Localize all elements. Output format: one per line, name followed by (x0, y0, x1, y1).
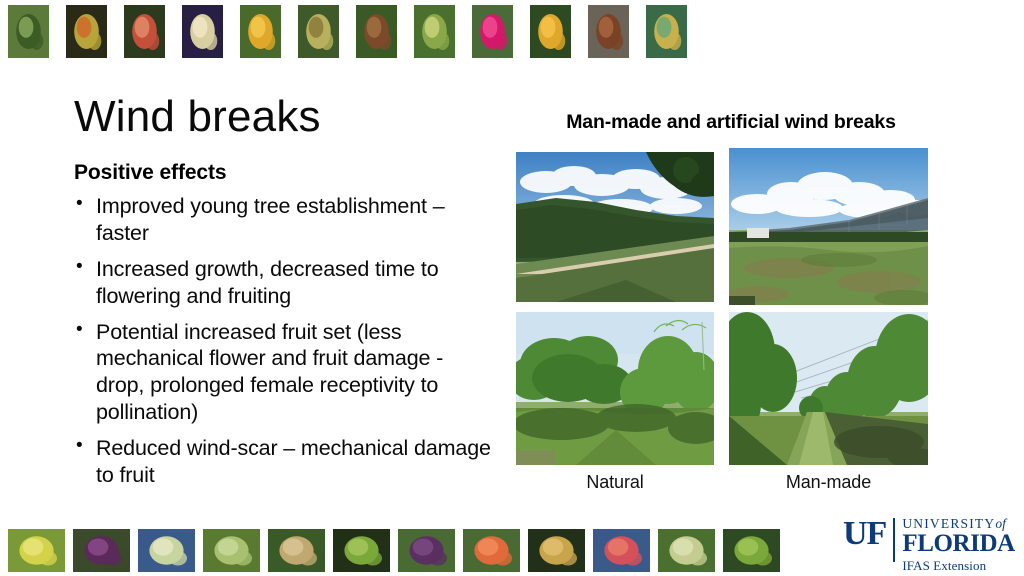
thumb-green-citrus (723, 529, 780, 572)
thumb-jackfruit (298, 5, 339, 58)
logo-divider (893, 518, 895, 562)
thumb-carambola-art (240, 5, 281, 58)
thumb-green-papaya-art (414, 5, 455, 58)
logo-university-text: UNIVERSITY (902, 516, 995, 531)
positive-effects-heading: Positive effects (74, 161, 226, 185)
thumb-banana-flower-art (182, 5, 223, 58)
photo-orchard-rows-wires (729, 312, 928, 465)
photo-orchard-rows-wires-art (729, 312, 928, 465)
thumb-sliced-green-fruit (138, 529, 195, 572)
thumb-papaya-halves (463, 529, 520, 572)
thumb-longan-cluster (528, 529, 585, 572)
photo-artificial-mesh-screen (729, 148, 928, 305)
thumb-carambola (240, 5, 281, 58)
photo-natural-green-windbreak (516, 312, 714, 465)
uf-monogram: UF (843, 516, 886, 550)
thumb-bananas (8, 529, 65, 572)
thumb-mango (66, 5, 107, 58)
thumb-atemoya-art (658, 529, 715, 572)
photo-captions: Natural Man-made (516, 472, 928, 496)
thumb-papaya-halves-art (463, 529, 520, 572)
bullet-item: Reduced wind-scar – mechanical damage to… (72, 435, 497, 489)
logo-of-text: of (995, 516, 1006, 531)
thumb-bananas-art (8, 529, 65, 572)
thumb-yellow-mango (530, 5, 571, 58)
uf-ifas-logo: UF UNIVERSITYof FLORIDA IFAS Extension (843, 516, 1015, 568)
thumb-green-sapote-art (333, 529, 390, 572)
thumb-dragon-fruit-art (472, 5, 513, 58)
photo-natural-green-windbreak-art (516, 312, 714, 465)
logo-ifas-text: IFAS Extension (902, 556, 1014, 572)
thumb-passionfruit-art (73, 529, 130, 572)
logo-wordmark: UNIVERSITYof FLORIDA IFAS Extension (902, 516, 1014, 572)
thumb-green-papaya (414, 5, 455, 58)
photo-grid (516, 152, 928, 465)
bullet-item: Potential increased fruit set (less mech… (72, 319, 497, 427)
page-title: Wind breaks (74, 94, 321, 140)
thumb-purple-fruit (398, 529, 455, 572)
thumb-lychee-art (124, 5, 165, 58)
thumb-sugar-apple (203, 529, 260, 572)
thumb-pineapple-art (646, 5, 687, 58)
thumb-sliced-green-fruit-art (138, 529, 195, 572)
thumb-mamey-halves-art (593, 529, 650, 572)
thumb-mango-art (66, 5, 107, 58)
thumb-mamey-sapote (588, 5, 629, 58)
thumb-pineapple (646, 5, 687, 58)
thumb-avocado (8, 5, 49, 58)
thumb-mamey-halves (593, 529, 650, 572)
thumb-atemoya (658, 529, 715, 572)
photo-section-heading: Man-made and artificial wind breaks (521, 111, 941, 134)
thumb-green-citrus-art (723, 529, 780, 572)
logo-university-line: UNIVERSITYof (902, 517, 1014, 531)
thumb-sugar-apple-art (203, 529, 260, 572)
photo-tree-windbreak-row (516, 152, 714, 302)
thumb-purple-fruit-art (398, 529, 455, 572)
photo-tree-windbreak-row-art (516, 152, 714, 302)
caption-manmade: Man-made (729, 472, 928, 493)
thumb-dragon-fruit (472, 5, 513, 58)
thumb-sapodilla (356, 5, 397, 58)
bullet-list: Improved young tree establishment – fast… (72, 193, 497, 498)
bullet-item: Improved young tree establishment – fast… (72, 193, 497, 247)
thumb-sapodilla-art (356, 5, 397, 58)
thumb-jackfruit-art (298, 5, 339, 58)
slide: Wind breaks Positive effects Improved yo… (0, 0, 1024, 576)
thumb-green-sapote (333, 529, 390, 572)
thumb-sapodilla-pair-art (268, 529, 325, 572)
thumb-lychee (124, 5, 165, 58)
thumb-sapodilla-pair (268, 529, 325, 572)
logo-florida-text: FLORIDA (902, 531, 1014, 557)
thumb-longan-cluster-art (528, 529, 585, 572)
bullet-item: Increased growth, decreased time to flow… (72, 256, 497, 310)
thumb-passionfruit (73, 529, 130, 572)
filmstrip-top (8, 5, 1018, 61)
thumb-mamey-sapote-art (588, 5, 629, 58)
photo-artificial-mesh-screen-art (729, 148, 928, 305)
thumb-banana-flower (182, 5, 223, 58)
thumb-yellow-mango-art (530, 5, 571, 58)
caption-natural: Natural (516, 472, 714, 493)
thumb-avocado-art (8, 5, 49, 58)
filmstrip-bottom (8, 529, 808, 573)
